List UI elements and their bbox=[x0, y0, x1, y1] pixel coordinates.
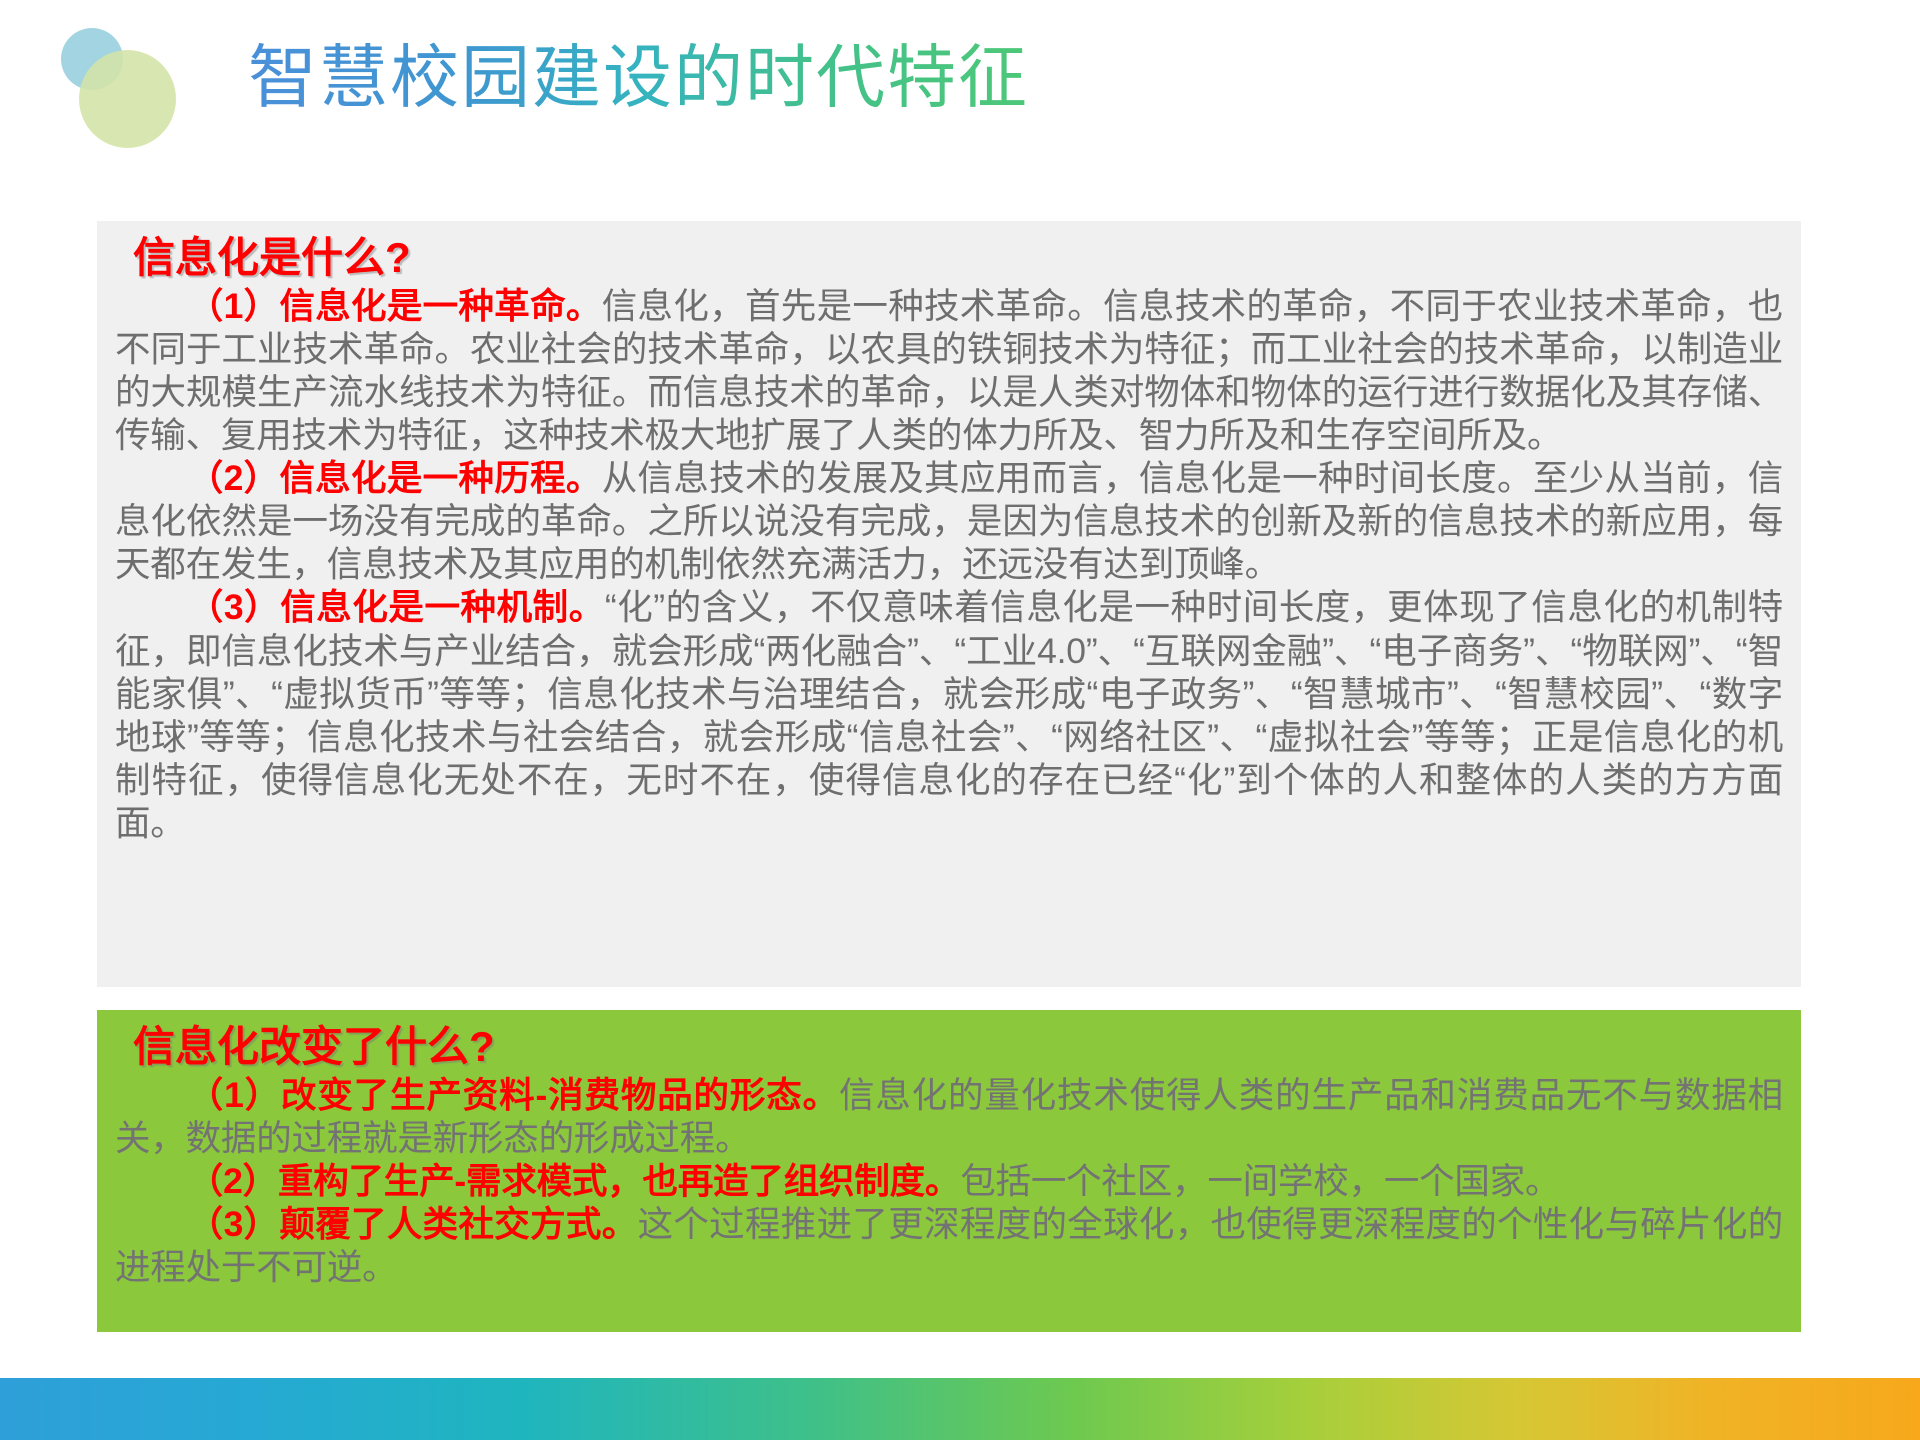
paragraph-item: （3）信息化是一种机制。“化”的含义，不仅意味着信息化是一种时间长度，更体现了信… bbox=[115, 586, 1783, 845]
page-title: 智慧校园建设的时代特征 bbox=[248, 42, 1029, 114]
section-heading-green: 信息化改变了什么? bbox=[133, 1022, 1783, 1072]
paragraph-lead: （3）颠覆了人类社交方式。 bbox=[188, 1204, 638, 1244]
decorative-circles bbox=[55, 28, 190, 153]
section-what-informatization-changed: 信息化改变了什么? （1）改变了生产资料-消费物品的形态。信息化的量化技术使得人… bbox=[97, 1010, 1801, 1332]
footer-gradient-bar bbox=[0, 1378, 1920, 1440]
paragraph-item: （1）改变了生产资料-消费物品的形态。信息化的量化技术使得人类的生产品和消费品无… bbox=[115, 1074, 1783, 1160]
paragraph-text: 包括一个社区，一间学校，一个国家。 bbox=[960, 1161, 1560, 1201]
section-heading-gray: 信息化是什么? bbox=[133, 233, 1783, 283]
paragraph-lead: （2）信息化是一种历程。 bbox=[188, 458, 602, 498]
paragraph-item: （2）重构了生产-需求模式，也再造了组织制度。包括一个社区，一间学校，一个国家。 bbox=[115, 1160, 1783, 1203]
paragraph-item: （2）信息化是一种历程。从信息技术的发展及其应用而言，信息化是一种时间长度。至少… bbox=[115, 457, 1783, 586]
section-what-is-informatization: 信息化是什么? （1）信息化是一种革命。信息化，首先是一种技术革命。信息技术的革… bbox=[97, 221, 1801, 987]
paragraph-item: （3）颠覆了人类社交方式。这个过程推进了更深程度的全球化，也使得更深程度的个性化… bbox=[115, 1203, 1783, 1289]
paragraph-item: （1）信息化是一种革命。信息化，首先是一种技术革命。信息技术的革命，不同于农业技… bbox=[115, 285, 1783, 458]
paragraph-lead: （2）重构了生产-需求模式，也再造了组织制度。 bbox=[188, 1161, 960, 1201]
section-body-green: （1）改变了生产资料-消费物品的形态。信息化的量化技术使得人类的生产品和消费品无… bbox=[115, 1074, 1783, 1290]
section-body-gray: （1）信息化是一种革命。信息化，首先是一种技术革命。信息技术的革命，不同于农业技… bbox=[115, 285, 1783, 846]
paragraph-lead: （1）改变了生产资料-消费物品的形态。 bbox=[188, 1075, 839, 1115]
paragraph-lead: （1）信息化是一种革命。 bbox=[188, 286, 602, 326]
circle-green-icon bbox=[79, 50, 176, 148]
paragraph-lead: （3）信息化是一种机制。 bbox=[188, 587, 605, 627]
